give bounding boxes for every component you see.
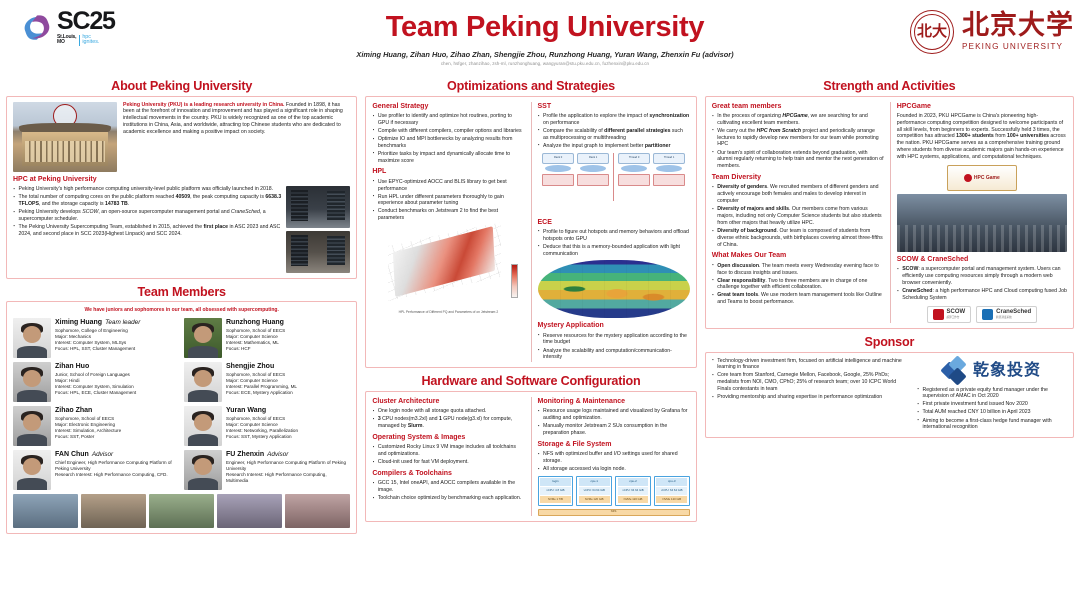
os-list: Customized Rocky Linux 9 VM image includ…: [372, 444, 524, 466]
hpcgame-logo-icon: HPC Game: [947, 165, 1017, 191]
member-name: FU ZhenxinAdvisor: [226, 450, 349, 459]
compilers-heading: Compilers & Toolchains: [372, 469, 524, 478]
divider: [531, 397, 532, 516]
member-name: Shengjie Zhou: [226, 362, 349, 371]
team-photo: [217, 494, 282, 528]
sponsor-section-title: Sponsor: [705, 334, 1074, 351]
list-item: We carry out the HPC from Scratch projec…: [712, 128, 884, 149]
pku-name-cn: 北京大学: [962, 12, 1074, 39]
list-item: SCOW: a supercomputer portal and managem…: [897, 266, 1067, 287]
sponsor-list-right: Registered as a private equity fund mana…: [917, 387, 1067, 432]
team-photo: [285, 494, 350, 528]
avatar: [184, 450, 222, 490]
scow-logo-row: SCOW超算工作台 CraneSched鹤思调度系统: [897, 306, 1067, 323]
sc25-wordmark: SC25 St.Louis,MO hpcignites.: [57, 10, 115, 46]
list-item: Resource usage logs maintained and visua…: [538, 408, 690, 422]
author-emails: chen, hsfger, zhanzihao, zsh-ml, runzhon…: [306, 61, 784, 67]
sponsor-logo: 乾象投资: [917, 358, 1067, 384]
avatar: [13, 362, 51, 402]
what-makes-heading: What Makes Our Team: [712, 251, 884, 260]
sst-diagram: Rank 0 Rank 1 Thread 0 Thread 1: [538, 153, 690, 215]
poster-header: SC25 St.Louis,MO hpcignites. Team Peking…: [6, 4, 1074, 78]
column-right: Strength and Activities Great team membe…: [705, 78, 1074, 603]
strength-right-pane: HPCGame Founded in 2023, PKU HPCGame is …: [897, 102, 1067, 323]
member-focus: Focus: HPL, ECE, Cluster Management: [55, 390, 178, 396]
diversity-heading: Team Diversity: [712, 173, 884, 182]
list-item: Profile to figure out hotspots and memor…: [538, 229, 690, 243]
datacenter-photos: [286, 186, 350, 273]
sst-node: Thread 0: [618, 153, 650, 186]
hpc-at-pku-heading: HPC at Peking University: [13, 175, 350, 184]
cluster-node: cpu-2 vCPU: 64 64 GiB NVMe 120 GiB: [615, 476, 651, 506]
diversity-list: Diversity of genders. We recruited membe…: [712, 184, 884, 248]
datacenter-photo-1: [286, 186, 350, 228]
scow-list: SCOW: a supercomputer portal and managem…: [897, 266, 1067, 301]
list-item: Toolchain choice optimized by benchmarki…: [372, 495, 524, 502]
optimizations-section: Optimizations and Strategies General Str…: [365, 78, 696, 368]
sponsor-logo-name: 乾象投资: [973, 360, 1041, 381]
list-item: Analyze the scalability and computation/…: [538, 348, 690, 362]
cluster-diagram: login vCPU: 4 8 GiB NVMe 1 TiB cpu-1 vCP…: [538, 476, 690, 506]
sst-node: Thread 1: [653, 153, 685, 186]
list-item: Our team's spirit of collaboration exten…: [712, 150, 884, 171]
hardware-right-pane: Monitoring & Maintenance Resource usage …: [538, 397, 690, 516]
optimizations-left-pane: General Strategy Use profiler to identif…: [372, 102, 524, 363]
sponsor-section: Sponsor Technology-driven investment fir…: [705, 334, 1074, 439]
list-item: Total AUM reached CNY 10 billion in Apri…: [917, 409, 1067, 416]
mystery-heading: Mystery Application: [538, 321, 690, 330]
list-item: The Peking University Supercomputing Tea…: [13, 224, 281, 238]
avatar: [13, 318, 51, 358]
scow-logo-name: SCOW超算工作台: [947, 309, 966, 320]
avatar: [13, 406, 51, 446]
about-text: Peking University (PKU) is a leading res…: [123, 102, 350, 172]
list-item: Optimize IO and MPI bottlenecks by analy…: [372, 136, 524, 150]
header-center: Team Peking University Ximing Huang, Zih…: [306, 4, 784, 67]
sst-node: Rank 1: [577, 153, 609, 186]
list-item: Registered as a private equity fund mana…: [917, 387, 1067, 401]
poster-columns: About Peking University Peking Universit…: [6, 78, 1074, 603]
member-focus: Focus: HPL, SST, Cluster Management: [55, 346, 178, 352]
header-right: 北大 北京大学 PEKING UNIVERSITY: [784, 4, 1074, 54]
list-item: Great team tools. We use modern team man…: [712, 292, 884, 306]
list-item: Providing mentorship and sharing experti…: [712, 394, 911, 401]
member-line1: Chief Engineer, High Performance Computi…: [55, 460, 178, 472]
team-member: Yuran Wang Sophomore, School of EECS Maj…: [184, 406, 349, 446]
member-name: Ximing HuangTeam leader: [55, 318, 178, 327]
list-item: Diversity of genders. We recruited membe…: [712, 184, 884, 205]
about-lead: Peking University (PKU) is a leading res…: [123, 102, 284, 108]
member-name: Yuran Wang: [226, 406, 349, 415]
strength-section: Strength and Activities Great team membe…: [705, 78, 1074, 329]
pku-wordmark: 北京大学 PEKING UNIVERSITY: [962, 12, 1074, 53]
team-member: Shengjie Zhou Sophomore, School of EECS …: [184, 362, 349, 402]
sc25-word: SC25: [57, 10, 115, 34]
hardware-left-pane: Cluster Architecture One login node with…: [372, 397, 524, 516]
general-strategy-list: Use profiler to identify and optimize ho…: [372, 113, 524, 165]
list-item: Compile with different compilers, compil…: [372, 128, 524, 135]
hpl-heading: HPL: [372, 167, 524, 176]
member-name: FAN ChunAdvisor: [55, 450, 178, 459]
divider: [531, 102, 532, 363]
team-member: Runzhong Huang Sophomore, School of EECS…: [184, 318, 349, 358]
hpcgame-photo: [897, 194, 1067, 252]
author-list: Ximing Huang, Zihan Huo, Zihao Zhan, She…: [306, 50, 784, 60]
storage-list: NFS with optimized buffer and I/O settin…: [538, 451, 690, 473]
list-item: Diversity of background. Our team is com…: [712, 228, 884, 249]
team-photo: [149, 494, 214, 528]
list-item: Open discussion. The team meets every We…: [712, 263, 884, 277]
team-member: FAN ChunAdvisor Chief Engineer, High Per…: [13, 450, 178, 490]
member-focus: Focus: SST, Mystery Application: [226, 434, 349, 440]
list-item: In the process of organizing HPCGame, we…: [712, 113, 884, 127]
list-item: Analyze the input graph to implement bet…: [538, 143, 690, 150]
hardware-card: Cluster Architecture One login node with…: [365, 391, 696, 522]
list-item: Compare the scalability of different par…: [538, 128, 690, 142]
header-left: SC25 St.Louis,MO hpcignites.: [6, 4, 306, 46]
pku-campus-photo: [13, 102, 117, 172]
team-card: We have juniors and sophomores in our te…: [6, 301, 357, 534]
list-item: The total number of computing cores on t…: [13, 194, 281, 208]
list-item: All storage accessed via login node.: [538, 466, 690, 473]
optimizations-section-title: Optimizations and Strategies: [365, 78, 696, 95]
ece-list: Profile to figure out hotspots and memor…: [538, 229, 690, 258]
team-grid: Ximing HuangTeam leader Sophomore, Colle…: [13, 318, 350, 490]
member-major: Research Interest: High Performance Comp…: [55, 472, 178, 478]
list-item: Reserve resources for the mystery applic…: [538, 333, 690, 347]
pku-seal-glyph: 北大: [911, 11, 953, 53]
strength-section-title: Strength and Activities: [705, 78, 1074, 95]
sponsor-diamond-icon: [943, 358, 969, 384]
storage-heading: Storage & File System: [538, 440, 690, 449]
sc25-swirl-icon: [20, 13, 54, 43]
ece-heading: ECE: [538, 218, 690, 227]
great-team-list: In the process of organizing HPCGame, we…: [712, 113, 884, 170]
list-item: Diversity of majors and skills. Our memb…: [712, 206, 884, 227]
list-item: Use profiler to identify and optimize ho…: [372, 113, 524, 127]
team-member: Zihan Huo Junior, School of Foreign Lang…: [13, 362, 178, 402]
sst-node: Rank 0: [542, 153, 574, 186]
sst-list: Profile the application to explore the i…: [538, 113, 690, 150]
column-left: About Peking University Peking Universit…: [6, 78, 357, 603]
cranesched-mark-icon: [982, 309, 993, 320]
cluster-node: cpu-1 vCPU: 64 64 GiB NVMe 120 GiB: [576, 476, 612, 506]
pku-seal-icon: 北大: [910, 10, 954, 54]
os-heading: Operating System & Images: [372, 433, 524, 442]
avatar: [184, 362, 222, 402]
optimizations-right-pane: SST Profile the application to explore t…: [538, 102, 690, 363]
sc25-logo: SC25 St.Louis,MO hpcignites.: [6, 10, 115, 46]
member-focus: Focus: HCF: [226, 346, 349, 352]
list-item: 3 CPU nodes(m3.2xl) and 1 GPU node(g3.xl…: [372, 416, 524, 430]
poster-root: SC25 St.Louis,MO hpcignites. Team Peking…: [0, 0, 1080, 608]
hpc-at-pku-list: Peking University's high performance com…: [13, 186, 281, 273]
compilers-list: GCC 15, Intel oneAPI, and AOCC compilers…: [372, 480, 524, 502]
member-name: Runzhong Huang: [226, 318, 349, 327]
column-middle: Optimizations and Strategies General Str…: [365, 78, 696, 603]
monitoring-heading: Monitoring & Maintenance: [538, 397, 690, 406]
team-member: Zihao Zhan Sophomore, School of EECS Maj…: [13, 406, 178, 446]
scow-heading: SCOW & CraneSched: [897, 255, 1067, 264]
scow-mark-icon: [933, 309, 944, 320]
list-item: Deduce that this is a memory-bounded app…: [538, 244, 690, 258]
member-major: Research Interest: High Performance Comp…: [226, 472, 349, 484]
page-title: Team Peking University: [306, 8, 784, 46]
list-item: Use EPYC-optimized AOCC and BLIS library…: [372, 179, 524, 193]
list-item: Core team from Stanford, Carnegie Mellon…: [712, 372, 911, 393]
monitoring-list: Resource usage logs maintained and visua…: [538, 408, 690, 437]
avatar: [13, 450, 51, 490]
list-item: Peking University's high performance com…: [13, 186, 281, 193]
cluster-node: cpu-3 vCPU: 64 64 GiB NVMe 120 GiB: [654, 476, 690, 506]
nfs-bar: NFS: [538, 509, 690, 516]
what-makes-list: Open discussion. The team meets every We…: [712, 263, 884, 307]
member-line1: Engineer, High Performance Computing Pla…: [226, 460, 349, 472]
cluster-list: One login node with all storage quota at…: [372, 408, 524, 430]
list-item: Profile the application to explore the i…: [538, 113, 690, 127]
list-item: Peking University develops SCOW, an open…: [13, 209, 281, 223]
list-item: NFS with optimized buffer and I/O settin…: [538, 451, 690, 465]
avatar: [184, 318, 222, 358]
cranesched-logo-name: CraneSched鹤思调度系统: [996, 309, 1031, 320]
member-focus: Focus: SST, Poster: [55, 434, 178, 440]
sponsor-right-pane: 乾象投资 Registered as a private equity fund…: [917, 358, 1067, 433]
datacenter-photo-2: [286, 231, 350, 273]
sst-heading: SST: [538, 102, 690, 111]
strength-card: Great team members In the process of org…: [705, 96, 1074, 329]
team-photo: [13, 494, 78, 528]
list-item: One login node with all storage quota at…: [372, 408, 524, 415]
hpcgame-heading: HPCGame: [897, 102, 1067, 111]
cranesched-logo: CraneSched鹤思调度系统: [976, 306, 1037, 323]
hpcgame-logo-label: HPC Game: [974, 175, 1000, 182]
hardware-section: Hardware and Software Configuration Clus…: [365, 373, 696, 521]
member-focus: Focus: ECE, Mystery Application: [226, 390, 349, 396]
member-name: Zihao Zhan: [55, 406, 178, 415]
avatar: [184, 406, 222, 446]
member-name: Zihan Huo: [55, 362, 178, 371]
pku-name-en: PEKING UNIVERSITY: [962, 42, 1074, 53]
sc25-city: St.Louis,MO: [57, 35, 76, 46]
list-item: Customized Rocky Linux 9 VM image includ…: [372, 444, 524, 458]
team-member: FU ZhenxinAdvisor Engineer, High Perform…: [184, 450, 349, 490]
team-photo: [81, 494, 146, 528]
divider: [890, 102, 891, 323]
cluster-node: login vCPU: 4 8 GiB NVMe 1 TiB: [538, 476, 574, 506]
list-item: Conduct benchmarks on Jetstream 2 to fin…: [372, 208, 524, 222]
team-photo-strip: [13, 494, 350, 528]
about-section: About Peking University Peking Universit…: [6, 78, 357, 279]
cluster-heading: Cluster Architecture: [372, 397, 524, 406]
scow-logo: SCOW超算工作台: [927, 306, 972, 323]
list-item: Clear responsibility. Two to three membe…: [712, 278, 884, 292]
hpl-surface-plot: [372, 225, 524, 309]
sponsor-left-pane: Technology-driven investment firm, focus…: [712, 358, 911, 433]
sc25-tagline: hpcignites.: [79, 35, 99, 46]
about-section-title: About Peking University: [6, 78, 357, 95]
list-item: Cloud-init used for fast VM deployment.: [372, 459, 524, 466]
optimizations-card: General Strategy Use profiler to identif…: [365, 96, 696, 369]
team-note: We have juniors and sophomores in our te…: [13, 307, 350, 314]
sponsor-card: Technology-driven investment firm, focus…: [705, 352, 1074, 439]
hpcgame-body: Founded in 2023, PKU HPCGame is China's …: [897, 113, 1067, 161]
hardware-section-title: Hardware and Software Configuration: [365, 373, 696, 390]
list-item: Technology-driven investment firm, focus…: [712, 358, 911, 372]
list-item: GCC 15, Intel oneAPI, and AOCC compilers…: [372, 480, 524, 494]
mystery-list: Reserve resources for the mystery applic…: [538, 333, 690, 362]
ece-world-map: [538, 260, 690, 318]
list-item: Aiming to become a first-class hedge fun…: [917, 418, 1067, 432]
list-item: Prioritize tasks by impact and dynamical…: [372, 151, 524, 165]
about-card: Peking University (PKU) is a leading res…: [6, 96, 357, 279]
hpl-figure-caption: HPL Performance of Different PQ and Para…: [372, 310, 524, 314]
list-item: CraneSched: a high performance HPC and C…: [897, 288, 1067, 302]
general-strategy-heading: General Strategy: [372, 102, 524, 111]
team-section-title: Team Members: [6, 284, 357, 301]
sponsor-list-left: Technology-driven investment firm, focus…: [712, 358, 911, 402]
list-item: Manually monitor Jetstream 2 SUs consump…: [538, 423, 690, 437]
list-item: Run HPL under different parameters thoro…: [372, 194, 524, 208]
team-member: Ximing HuangTeam leader Sophomore, Colle…: [13, 318, 178, 358]
great-team-heading: Great team members: [712, 102, 884, 111]
hpl-list: Use EPYC-optimized AOCC and BLIS library…: [372, 179, 524, 223]
strength-left-pane: Great team members In the process of org…: [712, 102, 884, 323]
team-members-section: Team Members We have juniors and sophomo…: [6, 284, 357, 534]
list-item: First private investment fund issued Nov…: [917, 401, 1067, 408]
